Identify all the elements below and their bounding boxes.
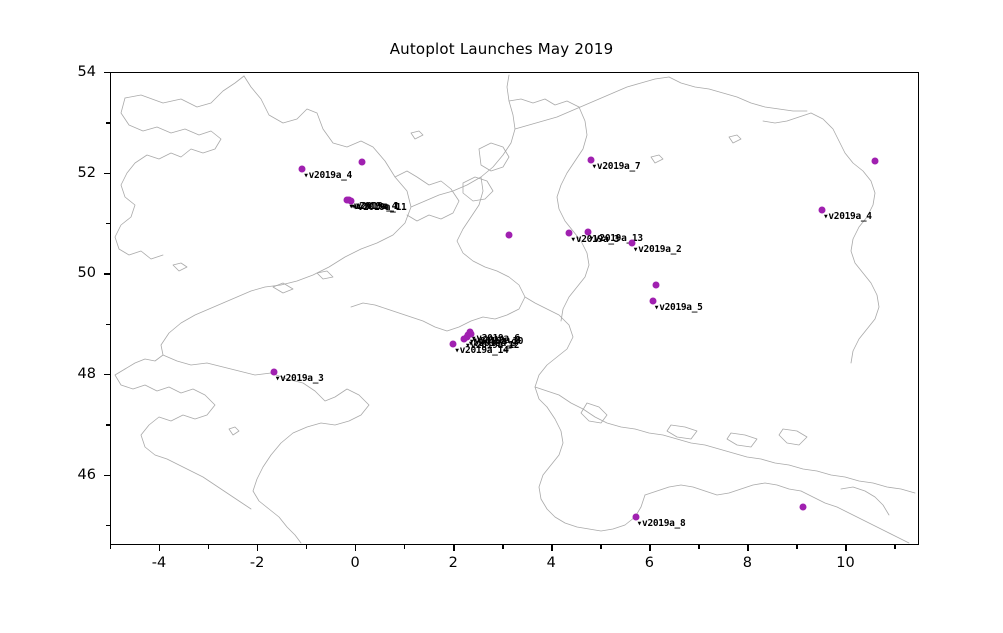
y-tick-minor (106, 424, 110, 425)
x-tick (649, 545, 650, 551)
x-tick-minor (502, 545, 503, 549)
data-point-label: ▾v2019a_8 (637, 518, 686, 529)
x-tick-minor (698, 545, 699, 549)
x-tick-label: 10 (836, 555, 854, 571)
data-point-label: ▾v2019a_4 (823, 211, 872, 222)
x-tick-minor (306, 545, 307, 549)
data-point[interactable] (506, 232, 513, 239)
x-tick-label: 6 (645, 555, 654, 571)
figure: Autoplot Launches May 2019 (0, 0, 1003, 633)
y-tick-label: 54 (58, 64, 96, 80)
data-point[interactable] (359, 159, 366, 166)
data-point-label: ▾v2019a_8 (472, 335, 521, 346)
y-tick-label: 52 (58, 165, 96, 181)
data-point-label: ▾v2019a_3 (275, 373, 324, 384)
x-tick (845, 545, 846, 551)
data-point-label: ▾v2019a_2 (633, 244, 682, 255)
data-point[interactable] (653, 282, 660, 289)
y-tick-minor (106, 223, 110, 224)
x-tick (257, 545, 258, 551)
data-point-label: ▾v2019a_7 (592, 161, 641, 172)
x-tick-label: -2 (250, 555, 264, 571)
x-tick-label: -4 (152, 555, 166, 571)
x-tick (159, 545, 160, 551)
y-tick (104, 374, 110, 375)
y-tick (104, 173, 110, 174)
data-point-label: ▾v2019a_11 (352, 202, 406, 213)
x-tick-label: 4 (547, 555, 556, 571)
x-tick-minor (600, 545, 601, 549)
chart-title: Autoplot Launches May 2019 (0, 40, 1003, 58)
basemap-coastlines (111, 73, 919, 545)
plot-area[interactable]: ▾v2019a_4▾v2019a_4▾v2019a_1▾v2019a_11▾v2… (110, 72, 919, 545)
x-tick-label: 2 (449, 555, 458, 571)
x-tick-minor (404, 545, 405, 549)
y-tick-label: 50 (58, 265, 96, 281)
data-point[interactable] (871, 158, 878, 165)
x-tick-label: 8 (743, 555, 752, 571)
x-tick-minor (110, 545, 111, 549)
y-tick (104, 475, 110, 476)
x-tick (355, 545, 356, 551)
data-point-label: ▾v2019a_5 (654, 302, 703, 313)
y-tick-minor (106, 525, 110, 526)
x-tick (551, 545, 552, 551)
y-tick (104, 72, 110, 73)
x-tick-label: 0 (351, 555, 360, 571)
y-tick (104, 273, 110, 274)
x-tick (747, 545, 748, 551)
y-tick-minor (106, 324, 110, 325)
data-point-label: ▾v2019a_4 (303, 170, 352, 181)
y-tick-label: 46 (58, 467, 96, 483)
x-tick-minor (208, 545, 209, 549)
x-tick-minor (796, 545, 797, 549)
x-tick-minor (894, 545, 895, 549)
y-tick-minor (106, 122, 110, 123)
data-point[interactable] (800, 503, 807, 510)
x-tick (453, 545, 454, 551)
y-tick-label: 48 (58, 366, 96, 382)
